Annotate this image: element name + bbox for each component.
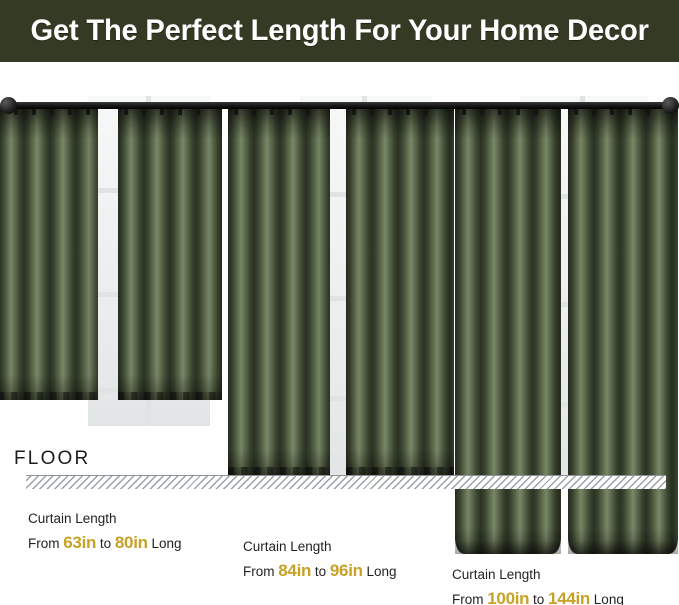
- callout-title: Curtain Length: [243, 537, 397, 558]
- callout-to-word: to: [315, 564, 326, 579]
- panel-hem: [228, 467, 330, 475]
- callout-to-word: to: [100, 536, 111, 551]
- panel-top-shadow: [568, 106, 678, 140]
- callout-max-value: 96in: [330, 561, 363, 580]
- callout-range: From 63in to 80in Long: [28, 530, 182, 556]
- callout-range: From 100in to 144in Long: [452, 586, 624, 605]
- panel-top-shadow: [346, 106, 454, 140]
- callout-max-value: 80in: [115, 533, 148, 552]
- callout-long-word: Long: [151, 536, 181, 551]
- callout-from-word: From: [28, 536, 60, 551]
- panel-hem: [568, 540, 678, 554]
- page-title: Get The Perfect Length For Your Home Dec…: [30, 14, 648, 48]
- floor-label: FLOOR: [14, 448, 90, 470]
- callout-min-value: 100in: [487, 589, 529, 605]
- callout-short: Curtain Length From 63in to 80in Long: [28, 509, 182, 556]
- curtain-panel-short-left: [0, 106, 98, 400]
- curtain-panel-medium-right: [346, 106, 454, 475]
- callout-long: Curtain Length From 100in to 144in Long: [452, 565, 624, 605]
- callout-long-word: Long: [366, 564, 396, 579]
- callout-title: Curtain Length: [452, 565, 624, 586]
- panel-top-shadow: [455, 106, 561, 140]
- panel-top-shadow: [228, 106, 330, 140]
- panel-hem: [346, 467, 454, 475]
- callout-range: From 84in to 96in Long: [243, 558, 397, 584]
- header-banner: Get The Perfect Length For Your Home Dec…: [0, 0, 679, 62]
- floor-hatch-line: [26, 475, 666, 489]
- panel-top-shadow: [118, 106, 222, 140]
- callout-min-value: 84in: [278, 561, 311, 580]
- callout-max-value: 144in: [548, 589, 590, 605]
- callout-from-word: From: [243, 564, 275, 579]
- curtain-panel-medium-left: [228, 106, 330, 475]
- rod-finial-right-icon: [662, 97, 679, 114]
- callout-min-value: 63in: [63, 533, 96, 552]
- callout-to-word: to: [533, 592, 544, 605]
- curtain-scene: FLOOR Curtain Length From 63in to 80in L…: [0, 62, 679, 605]
- callout-long-word: Long: [594, 592, 624, 605]
- curtain-rod: [6, 102, 668, 109]
- curtain-panel-short-right: [118, 106, 222, 400]
- callout-title: Curtain Length: [28, 509, 182, 530]
- callout-medium: Curtain Length From 84in to 96in Long: [243, 537, 397, 584]
- panel-hem: [118, 392, 222, 400]
- callout-from-word: From: [452, 592, 484, 605]
- panel-hem: [455, 540, 561, 554]
- panel-hem: [0, 392, 98, 400]
- rod-finial-left-icon: [0, 97, 17, 114]
